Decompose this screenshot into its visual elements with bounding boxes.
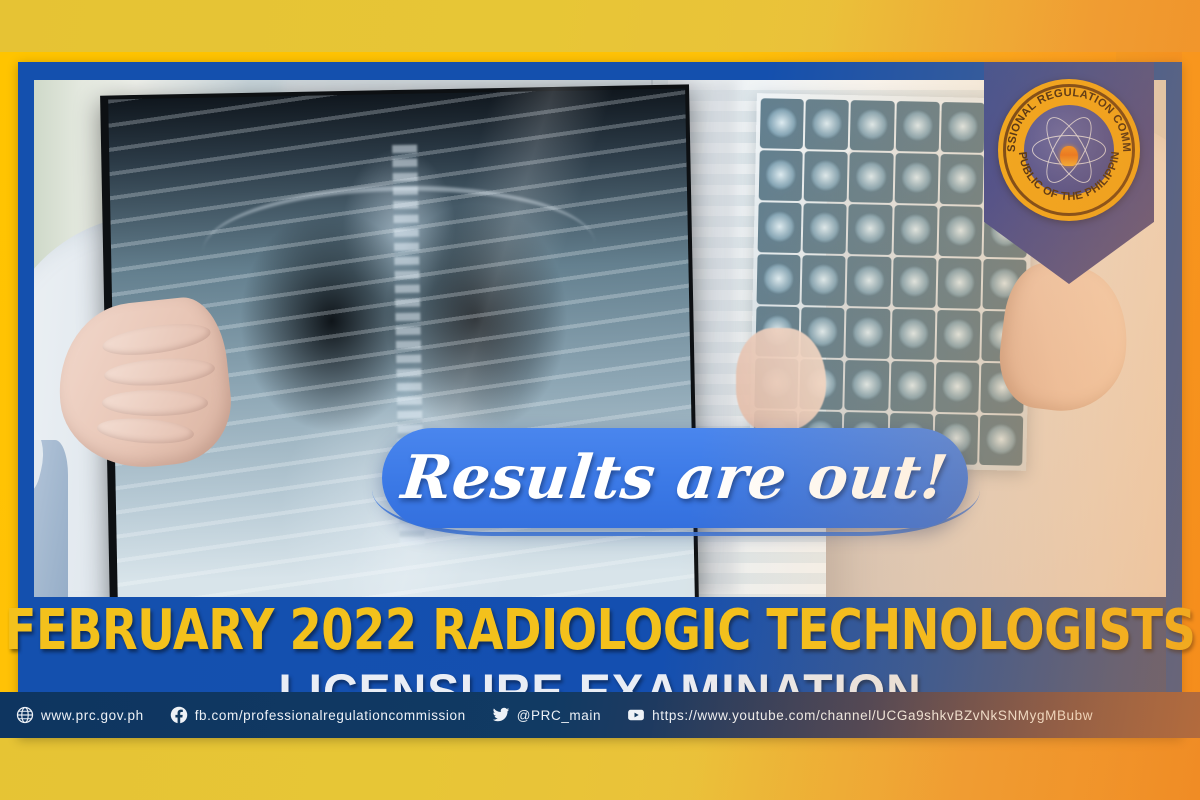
poster-canvas: Results are out! FEBRUARY 2022 RADIOLOGI… [0, 0, 1200, 800]
globe-icon [16, 706, 34, 724]
mri-slice [850, 100, 894, 151]
mri-slice [758, 150, 802, 201]
torch-flame-icon [1060, 146, 1078, 166]
blue-frame-card: Results are out! FEBRUARY 2022 RADIOLOGI… [18, 62, 1182, 738]
badge-pill: Results are out! [382, 428, 968, 528]
mri-slice [940, 102, 984, 153]
mri-slice [938, 206, 982, 257]
youtube-label: https://www.youtube.com/channel/UCGa9shk… [652, 708, 1093, 723]
mri-slice [846, 308, 890, 359]
footer-item-youtube[interactable]: https://www.youtube.com/channel/UCGa9shk… [627, 706, 1093, 724]
twitter-icon [492, 706, 510, 724]
facebook-icon [170, 706, 188, 724]
exam-title-line-1: FEBRUARY 2022 RADIOLOGIC TECHNOLOGISTS [5, 603, 1196, 659]
facebook-label: fb.com/professionalregulationcommission [195, 708, 466, 723]
contact-footer: www.prc.gov.ph fb.com/professionalregula… [0, 692, 1200, 738]
mri-slice [893, 205, 937, 256]
badge-label: Results are out! [398, 443, 951, 513]
mri-slice [936, 310, 980, 361]
prc-seal: PROFESSIONAL REGULATION COMMISSION REPUB… [998, 79, 1140, 221]
twitter-label: @PRC_main [517, 708, 601, 723]
mri-slice [939, 154, 983, 205]
mri-slice [802, 255, 846, 306]
mri-slice [935, 362, 979, 413]
mri-slice [805, 99, 849, 150]
results-badge: Results are out! [364, 420, 984, 548]
footer-item-twitter[interactable]: @PRC_main [492, 706, 601, 724]
mri-slice [803, 203, 847, 254]
seal-inner-disc [1021, 102, 1117, 198]
mri-slice [892, 257, 936, 308]
left-finger-3 [102, 390, 208, 416]
mri-slice [847, 256, 891, 307]
right-hand-lower [736, 328, 827, 431]
footer-item-website[interactable]: www.prc.gov.ph [16, 706, 144, 724]
mri-slice [979, 415, 1023, 466]
mri-slice [804, 151, 848, 202]
mri-slice [894, 153, 938, 204]
mri-slice [756, 254, 800, 305]
mri-slice [849, 152, 893, 203]
mri-slice [891, 309, 935, 360]
mri-slice [757, 202, 801, 253]
mri-slice [845, 360, 889, 411]
mri-slice [937, 258, 981, 309]
youtube-icon [627, 706, 645, 724]
website-label: www.prc.gov.ph [41, 708, 144, 723]
mri-slice [895, 101, 939, 152]
footer-item-facebook[interactable]: fb.com/professionalregulationcommission [170, 706, 466, 724]
mri-slice [890, 361, 934, 412]
mri-slice [760, 98, 804, 149]
mri-slice [848, 204, 892, 255]
